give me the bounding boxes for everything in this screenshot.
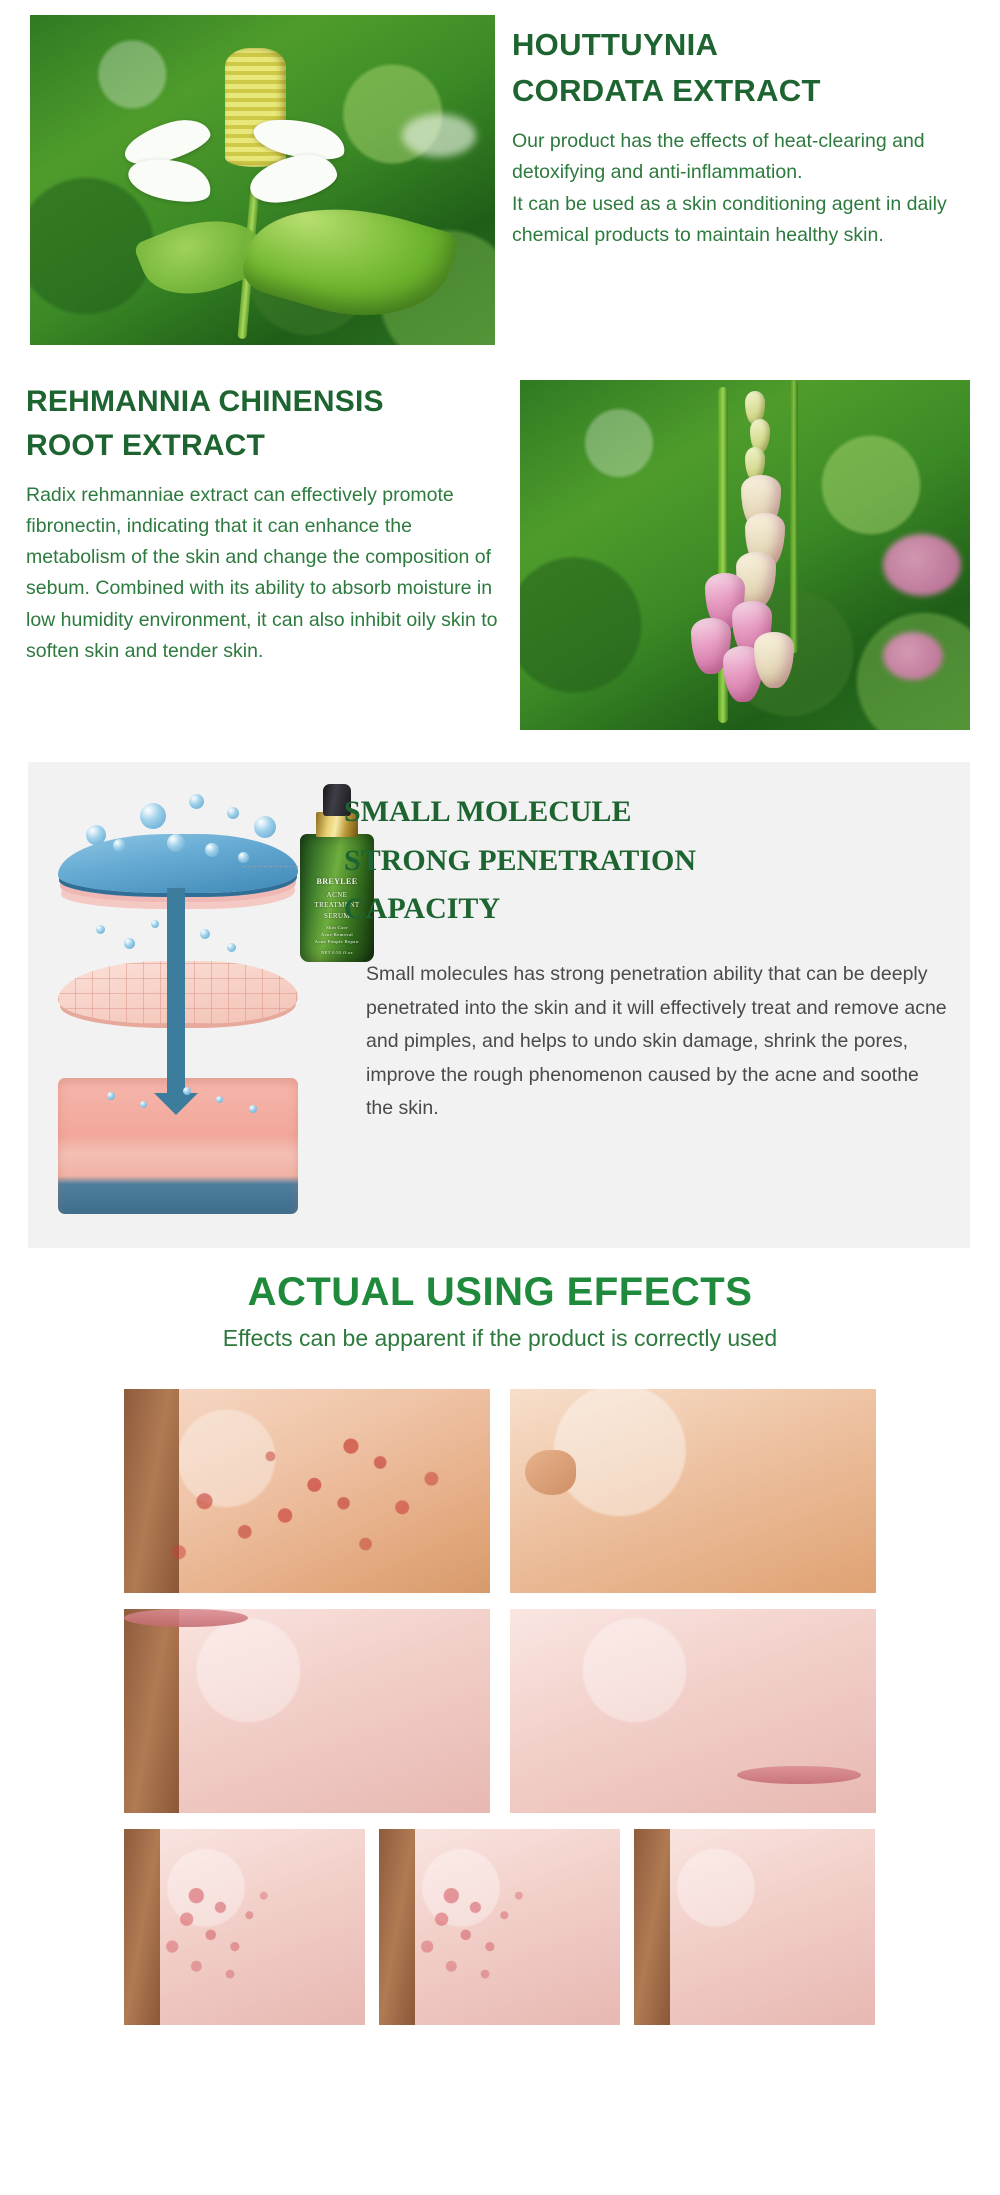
houttuynia-heading-line2: CORDATA EXTRACT [512, 68, 980, 114]
section-houttuynia: HOUTTUYNIA CORDATA EXTRACT Our product h… [0, 0, 1000, 368]
effects-photo-row [124, 1609, 876, 1813]
effects-subtitle: Effects can be apparent if the product i… [0, 1325, 1000, 1352]
photo-before-face-severe [124, 1829, 365, 2025]
photo-mid-face-improving [379, 1829, 620, 2025]
penetration-heading: SMALL MOLECULE STRONG PENETRATION CAPACI… [344, 788, 958, 934]
skin-penetration-diagram [42, 780, 314, 1232]
photo-after-face-clear [634, 1829, 875, 2025]
rehmannia-body: Radix rehmanniae extract can effectively… [26, 480, 500, 667]
penetration-body: Small molecules has strong penetration a… [366, 958, 948, 1126]
effects-photo-row [124, 1389, 876, 1593]
photo-after-calm-cheek [510, 1609, 876, 1813]
penetration-heading-line1: SMALL MOLECULE [344, 788, 958, 837]
houttuynia-heading: HOUTTUYNIA CORDATA EXTRACT [512, 22, 980, 114]
effects-heading: ACTUAL USING EFFECTS [0, 1270, 1000, 1315]
rehmannia-text-block: REHMANNIA CHINENSIS ROOT EXTRACT Radix r… [26, 380, 500, 667]
penetration-heading-line2: STRONG PENETRATION [344, 837, 958, 886]
section-rehmannia: REHMANNIA CHINENSIS ROOT EXTRACT Radix r… [0, 368, 1000, 750]
houttuynia-cordata-image [30, 15, 495, 345]
photo-after-clear-cheek [510, 1389, 876, 1593]
bottle-volume: NET 0.55 fl.oz [300, 950, 374, 955]
houttuynia-heading-line1: HOUTTUYNIA [512, 22, 980, 68]
rehmannia-chinensis-image [520, 380, 970, 730]
photo-before-cheek-acne [124, 1389, 490, 1593]
rehmannia-heading-line2: ROOT EXTRACT [26, 424, 500, 468]
rehmannia-heading-line1: REHMANNIA CHINENSIS [26, 380, 500, 424]
photo-before-cheek-breakout [124, 1609, 490, 1813]
effects-photo-row [124, 1829, 876, 2025]
bottle-claim3: Acne Pimple Repair [300, 939, 374, 944]
rehmannia-heading: REHMANNIA CHINENSIS ROOT EXTRACT [26, 380, 500, 469]
section-effects: ACTUAL USING EFFECTS Effects can be appa… [0, 1270, 1000, 2195]
penetration-heading-line3: CAPACITY [344, 885, 958, 934]
section-penetration: BREYLEE ACNE TREATMENT SERUM Skin Care A… [28, 762, 970, 1248]
effects-photo-grid [124, 1389, 876, 2025]
houttuynia-body: Our product has the effects of heat-clea… [512, 126, 980, 252]
houttuynia-text-block: HOUTTUYNIA CORDATA EXTRACT Our product h… [512, 22, 980, 252]
